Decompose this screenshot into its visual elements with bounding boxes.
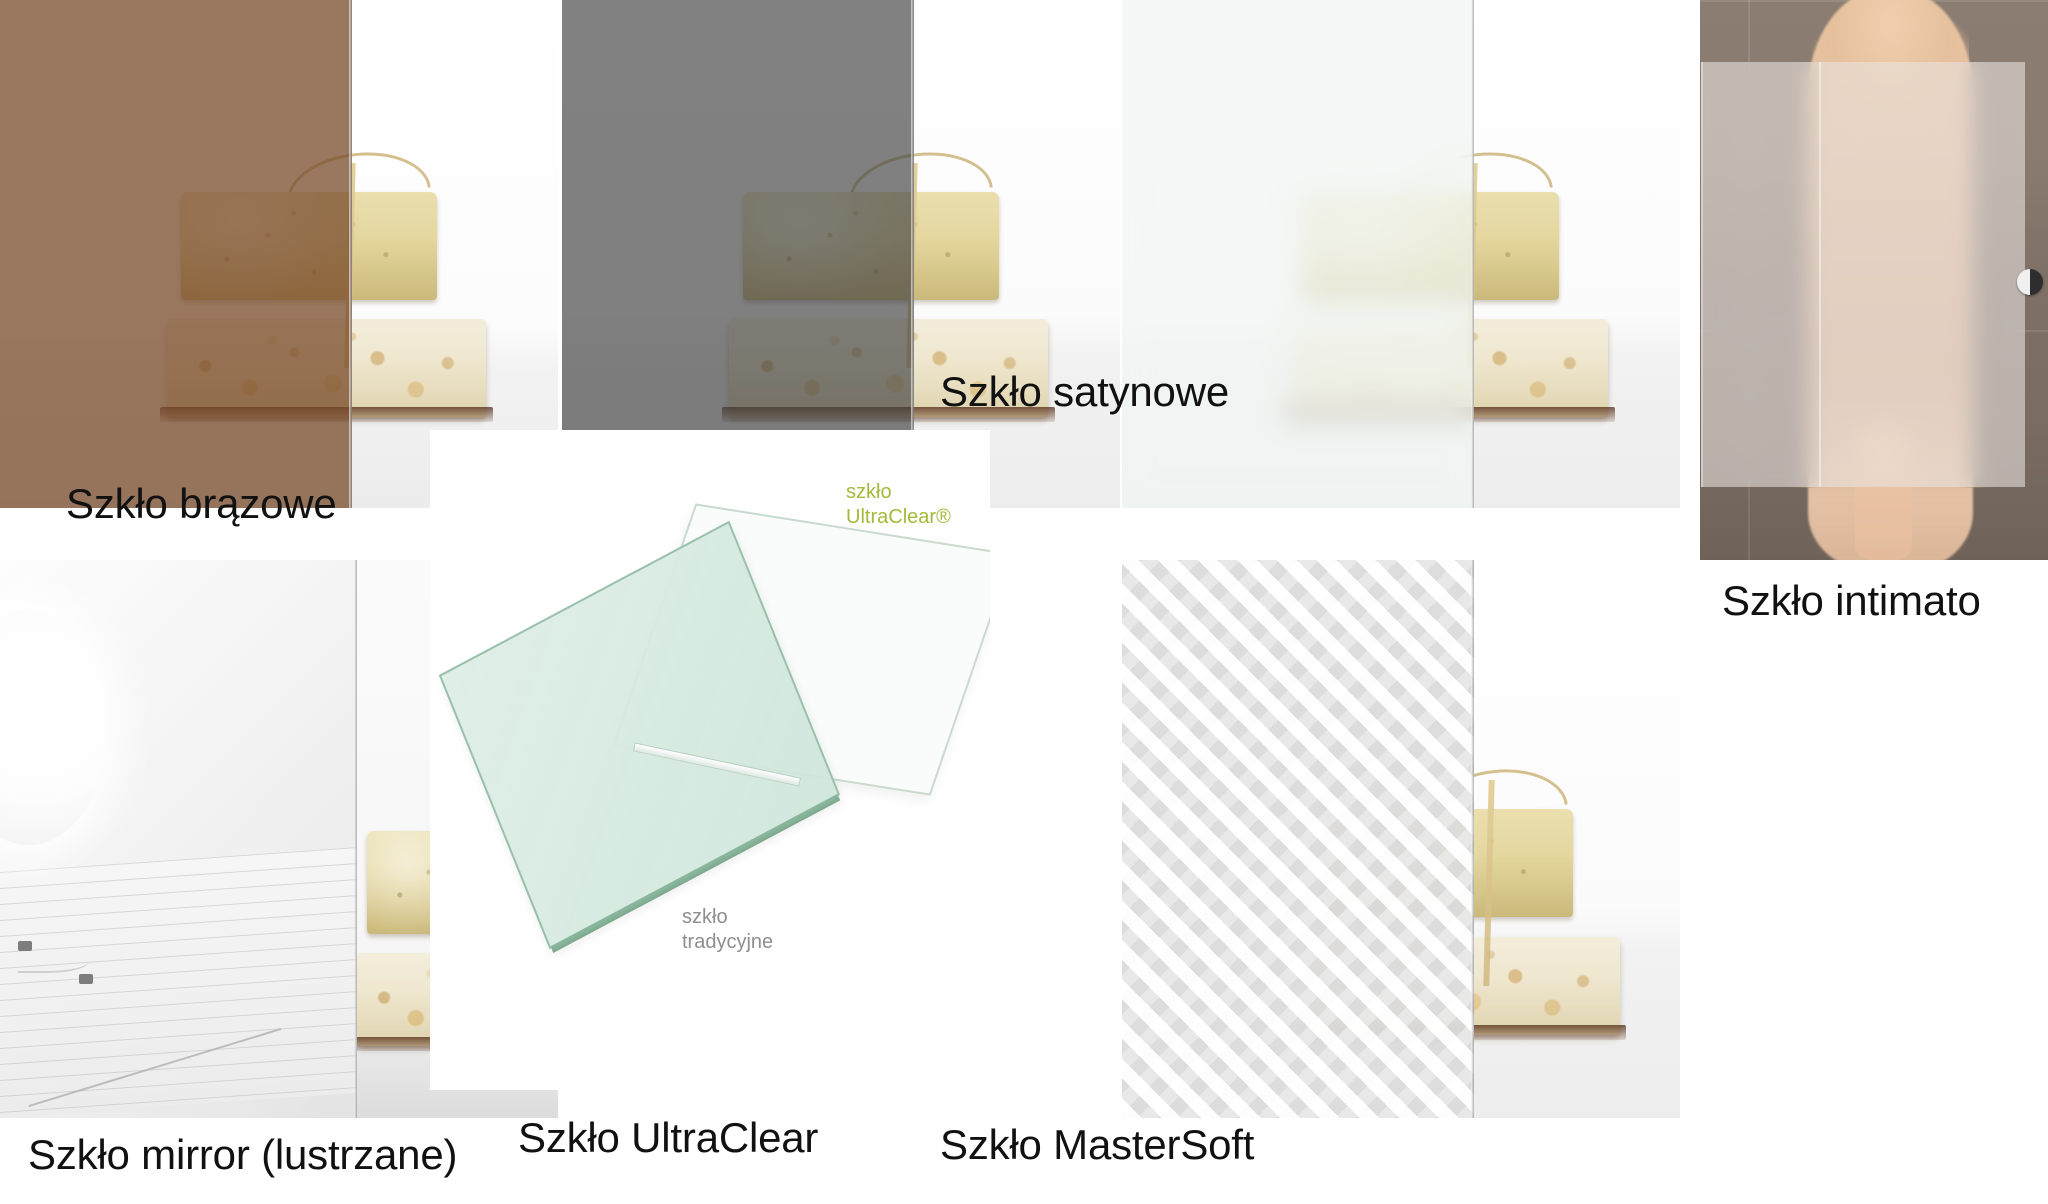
ultraclear-label-line2: UltraClear®	[846, 505, 951, 530]
traditional-label-line2: tradycyjne	[682, 930, 773, 955]
caption-satin: Szkło satynowe	[940, 371, 1229, 413]
ultraclear-label-line1: szkło	[846, 480, 951, 505]
shower-scene	[1690, 0, 2048, 560]
tile-mastersoft[interactable]	[1122, 560, 1680, 1118]
glass-types-gallery: Szkło brązowe Szkło grafitowe	[0, 0, 2048, 1204]
satin-glass-pane	[1122, 0, 1474, 508]
caption-mastersoft: Szkło MasterSoft	[940, 1124, 1254, 1166]
caption-intimato: Szkło intimato	[1722, 580, 1981, 622]
glass-seam	[1819, 62, 1821, 488]
glass-edge	[354, 560, 357, 1118]
glass-sheets-scene: szkło UltraClear® szkło tradycyjne	[430, 430, 990, 1090]
caption-ultraclear: Szkło UltraClear	[518, 1117, 818, 1159]
tile-satin[interactable]	[1122, 0, 1680, 508]
glass-edge	[349, 0, 352, 508]
tile-ultraclear-image: szkło UltraClear® szkło tradycyjne	[430, 430, 990, 1090]
intimato-glass-pane	[1701, 62, 2025, 488]
tile-intimato-image	[1690, 0, 2048, 560]
glass-edge	[1471, 0, 1474, 508]
reflected-clip	[18, 941, 32, 951]
tile-intimato[interactable]	[1690, 0, 2048, 560]
reflected-floor	[0, 848, 357, 1118]
mirror-glass-pane	[0, 560, 357, 1118]
traditional-label: szkło tradycyjne	[682, 905, 773, 955]
tile-left-margin	[1690, 0, 1700, 560]
caption-brown: Szkło brązowe	[66, 483, 337, 525]
shower-door-handle-icon[interactable]	[2017, 269, 2043, 295]
reflected-clip	[79, 974, 93, 984]
traditional-label-line1: szkło	[682, 905, 773, 930]
ultraclear-label: szkło UltraClear®	[846, 480, 951, 530]
tile-satin-image	[1122, 0, 1680, 508]
glass-edge	[1471, 560, 1474, 1118]
reflected-lamp	[0, 610, 107, 844]
brown-glass-pane	[0, 0, 352, 508]
tile-mastersoft-image	[1122, 560, 1680, 1118]
mastersoft-glass-pane	[1122, 560, 1474, 1118]
tile-ultraclear[interactable]: szkło UltraClear® szkło tradycyjne	[430, 430, 990, 1090]
caption-mirror: Szkło mirror (lustrzane)	[28, 1134, 457, 1176]
